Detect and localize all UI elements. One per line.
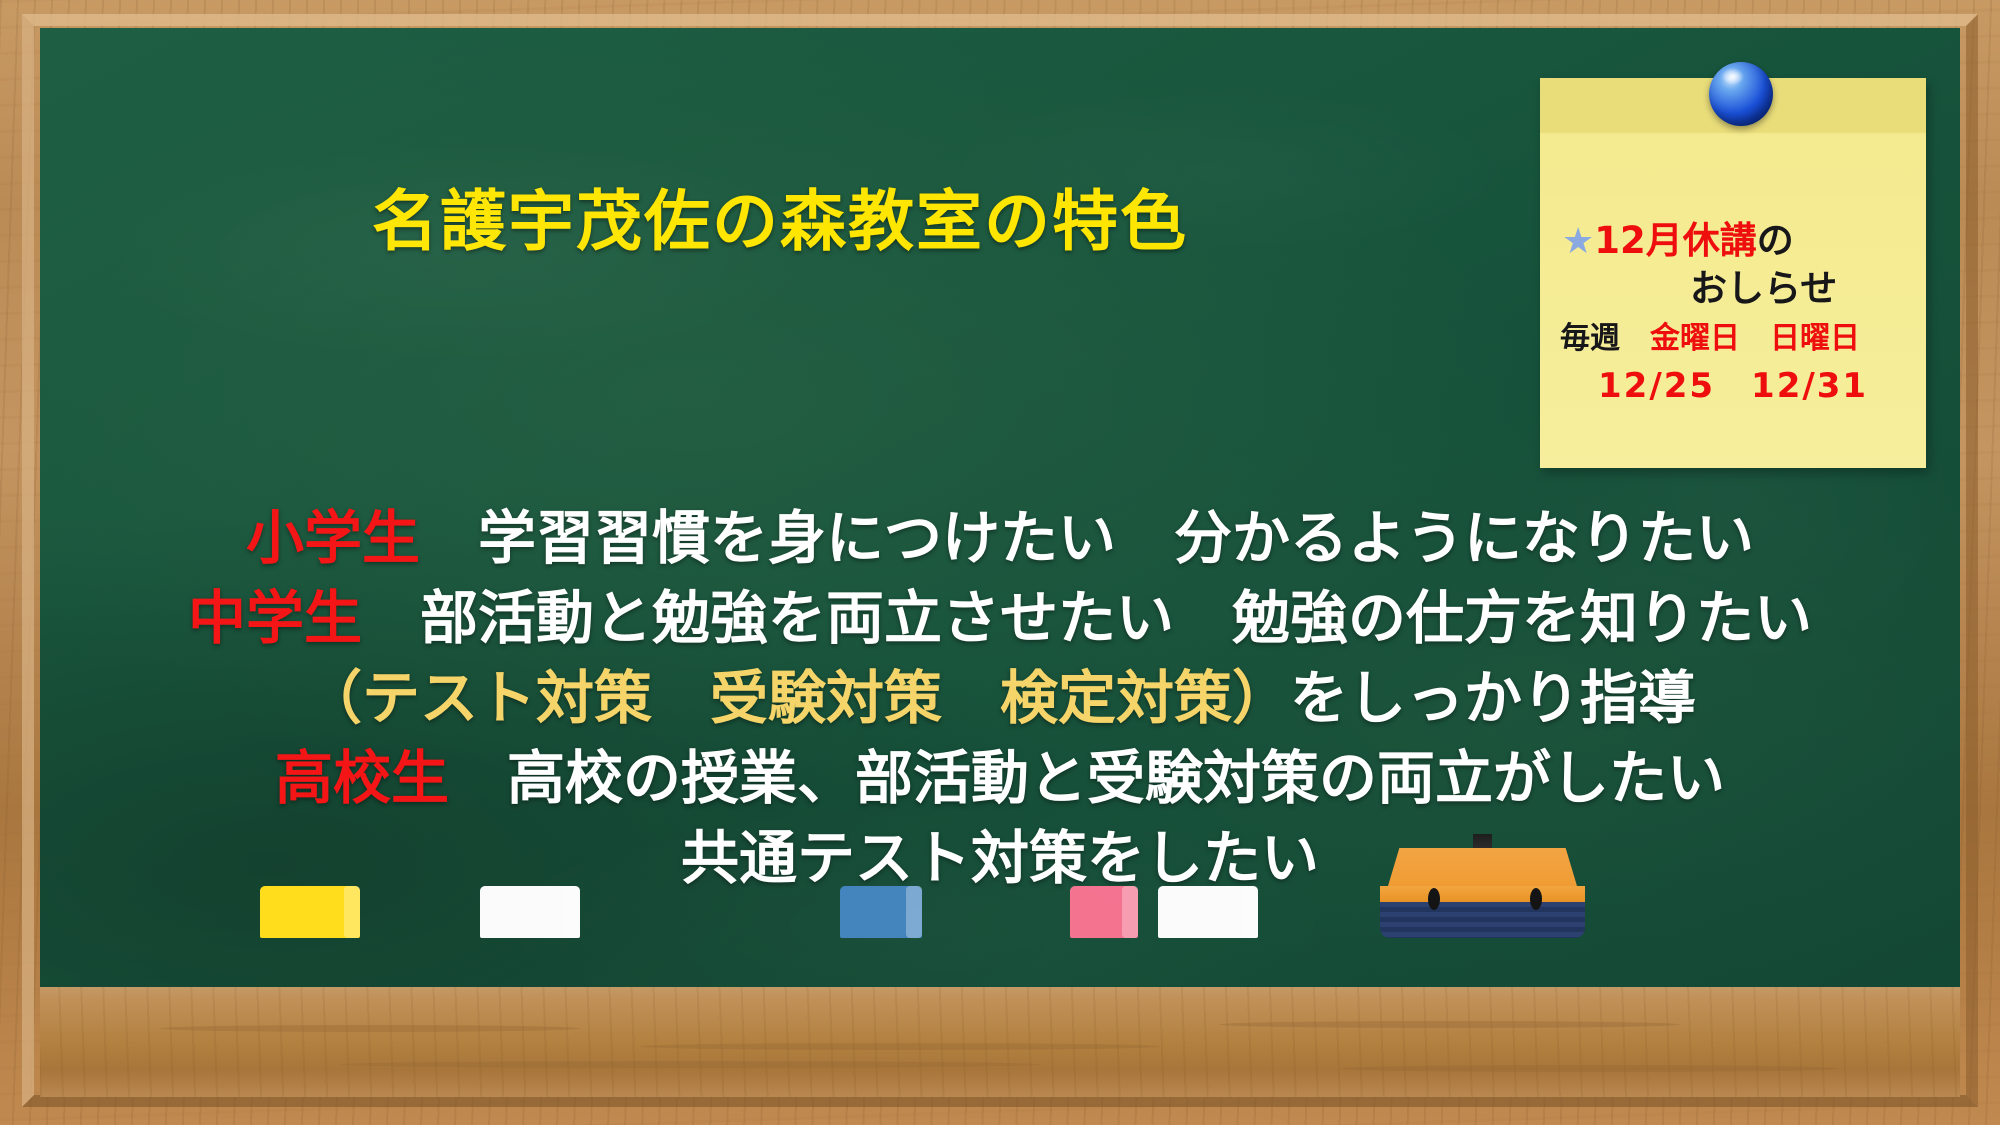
eraser-felt xyxy=(1380,902,1585,938)
body-line-high-school: 高校生 高校の授業、部活動と受験対策の両立がしたい xyxy=(40,738,1960,818)
sticky-note-announcement[interactable]: ★12月休講の おしらせ 毎週 金曜日 日曜日 12/25 12/31 xyxy=(1540,78,1926,468)
eraser-top xyxy=(1388,848,1577,886)
note-closure-particle: の xyxy=(1757,219,1794,262)
label-elementary: 小学生 xyxy=(246,504,420,572)
chalk-highlight xyxy=(564,886,580,938)
wood-grain xyxy=(340,1061,1040,1068)
chalk-yellow xyxy=(260,886,360,938)
body-line-exam-support: （テスト対策 受験対策 検定対策）をしっかり指導 xyxy=(40,658,1960,738)
note-line-closure-title: ★12月休講の xyxy=(1562,210,1794,264)
wood-grain xyxy=(640,1043,1160,1050)
chalk-white-1 xyxy=(480,886,580,938)
star-icon: ★ xyxy=(1562,221,1594,262)
chalk-highlight xyxy=(1242,886,1258,938)
note-weekly-label: 毎週 xyxy=(1560,321,1620,356)
note-line-notice: おしらせ xyxy=(1690,258,1837,312)
text-high-school-needs: 高校の授業、部活動と受験対策の両立がしたい xyxy=(449,744,1725,812)
note-closure-month: 12月休講 xyxy=(1594,219,1757,262)
chalkboard-frame: 名護宇茂佐の森教室の特色 小学生 学習習慣を身につけたい 分かるようになりたい … xyxy=(0,0,2000,1125)
pushpin-icon[interactable] xyxy=(1709,62,1773,126)
chalk-white-2 xyxy=(1158,886,1258,938)
chalk-highlight xyxy=(1122,886,1138,938)
body-text-block: 小学生 学習習慣を身につけたい 分かるようになりたい 中学生 部活動と勉強を両立… xyxy=(40,498,1960,898)
eraser-hole-left xyxy=(1428,888,1440,910)
eraser-hole-right xyxy=(1530,888,1542,910)
chalk-highlight xyxy=(906,886,922,938)
text-thorough-guidance: をしっかり指導 xyxy=(1290,664,1696,732)
label-junior-high: 中学生 xyxy=(188,584,362,652)
eraser-band xyxy=(1380,886,1585,902)
chalk-pink xyxy=(1070,886,1138,938)
chalk-blue xyxy=(840,886,922,938)
note-line-dates: 12/25 12/31 xyxy=(1598,358,1868,407)
wood-grain xyxy=(1340,1065,1840,1072)
label-high-school: 高校生 xyxy=(275,744,449,812)
wood-grain xyxy=(1220,1021,1680,1028)
body-line-junior-high: 中学生 部活動と勉強を両立させたい 勉強の仕方を知りたい xyxy=(40,578,1960,658)
text-common-test: 共通テスト対策をしたい xyxy=(681,824,1319,892)
note-line-weekly-days: 毎週 金曜日 日曜日 xyxy=(1560,313,1860,357)
chalk-highlight xyxy=(344,886,360,938)
wood-grain xyxy=(160,1025,580,1032)
chalk-tray xyxy=(40,987,1960,1097)
page-title: 名護宇茂佐の森教室の特色 xyxy=(40,168,1520,264)
text-elementary-needs: 学習習慣を身につけたい 分かるようになりたい xyxy=(420,504,1754,572)
chalkboard-eraser xyxy=(1380,848,1585,938)
text-exam-countermeasures: （テスト対策 受験対策 検定対策） xyxy=(304,664,1290,732)
note-weekly-days: 金曜日 日曜日 xyxy=(1620,321,1860,356)
text-junior-high-needs: 部活動と勉強を両立させたい 勉強の仕方を知りたい xyxy=(362,584,1812,652)
body-line-elementary: 小学生 学習習慣を身につけたい 分かるようになりたい xyxy=(40,498,1960,578)
